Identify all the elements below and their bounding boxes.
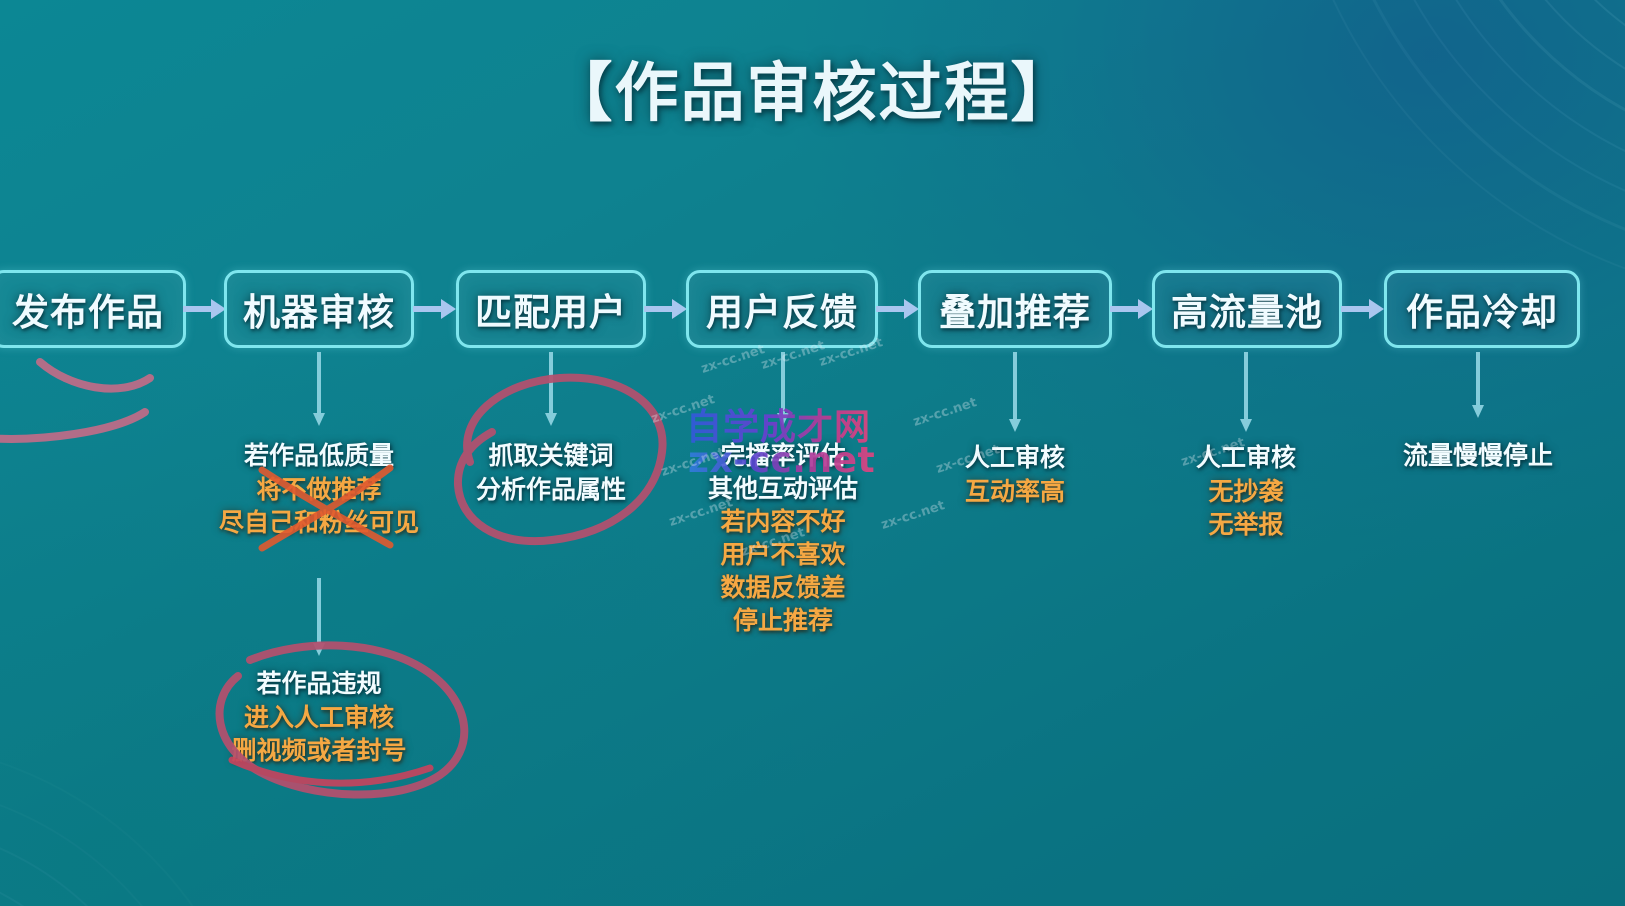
- arrow-right-icon: [644, 296, 688, 322]
- arrow-down-icon: [312, 352, 326, 426]
- detail-block-machine-violation: 若作品违规进入人工审核删视频或者封号: [119, 668, 519, 767]
- branch-heading: 若作品违规: [119, 668, 519, 701]
- arrow-right-icon: [1110, 296, 1154, 322]
- detail-heading: 流量慢慢停止: [1278, 440, 1625, 473]
- flow-node-label: 高流量池: [1171, 282, 1323, 336]
- arrow-right-icon: [183, 296, 227, 322]
- flow-node-label: 匹配用户: [475, 282, 627, 336]
- flow-node-match[interactable]: 匹配用户: [456, 270, 646, 348]
- flow-node-publish[interactable]: 发布作品: [0, 270, 186, 348]
- flow-node-machine[interactable]: 机器审核: [224, 270, 414, 348]
- flow-node-feedback[interactable]: 用户反馈: [686, 270, 878, 348]
- detail-line: 无抄袭: [1046, 475, 1446, 508]
- arrow-down-icon: [1239, 352, 1253, 432]
- detail-line: 无举报: [1046, 508, 1446, 541]
- flow-node-boost[interactable]: 叠加推荐: [918, 270, 1112, 348]
- flow-node-label: 叠加推荐: [939, 282, 1091, 336]
- flow-node-cooldown[interactable]: 作品冷却: [1384, 270, 1580, 348]
- detail-line: 尽自己和粉丝可见: [119, 506, 519, 539]
- flow-node-label: 作品冷却: [1406, 282, 1558, 336]
- arrow-right-icon: [876, 296, 920, 322]
- page-title: 【作品审核过程】: [0, 42, 1625, 134]
- flow-node-highpool[interactable]: 高流量池: [1152, 270, 1342, 348]
- detail-line: 数据反馈差: [583, 571, 983, 604]
- flow-node-label: 机器审核: [243, 282, 395, 336]
- arrow-down-icon: [1471, 352, 1485, 418]
- flow-node-label: 用户反馈: [706, 282, 858, 336]
- arrow-right-icon: [413, 296, 457, 322]
- arrow-down-icon: [1008, 352, 1022, 432]
- arrow-down-icon: [544, 352, 558, 426]
- flow-node-label: 发布作品: [12, 282, 164, 336]
- branch-line: 进入人工审核: [119, 701, 519, 734]
- arrow-down-icon-branch: [312, 578, 326, 656]
- detail-block-cooldown-stop: 流量慢慢停止: [1278, 440, 1625, 473]
- branch-line: 删视频或者封号: [119, 734, 519, 767]
- process-flow-row: 发布作品机器审核匹配用户用户反馈叠加推荐高流量池作品冷却: [0, 270, 1625, 350]
- detail-line: 停止推荐: [583, 604, 983, 637]
- arrow-right-icon: [1341, 296, 1385, 322]
